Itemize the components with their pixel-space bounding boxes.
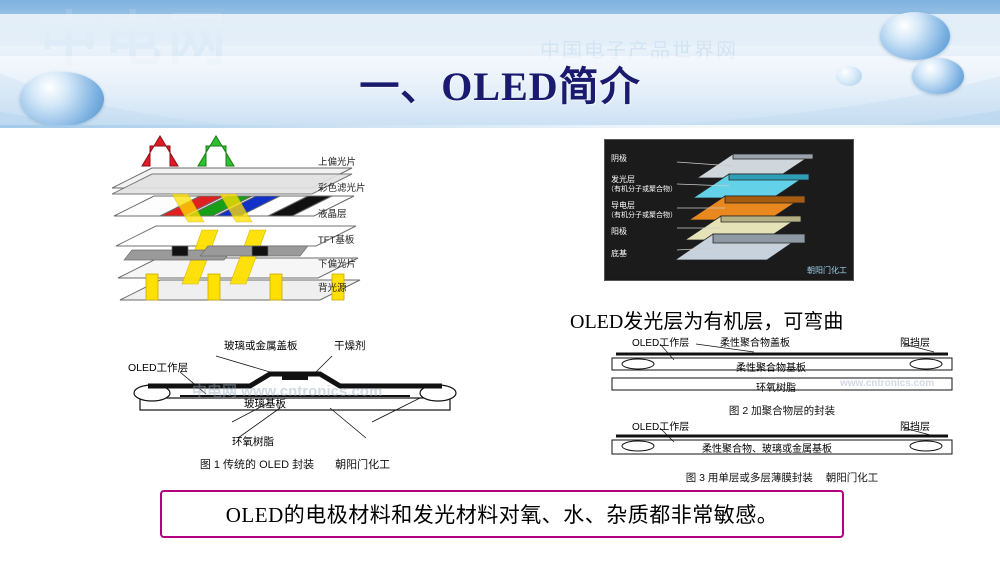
- figure-2-label-working-layer: OLED工作层: [632, 334, 689, 349]
- lcd-label-4: 下偏光片: [318, 260, 356, 270]
- figure-1-label-glass-substrate: 玻璃基板: [244, 396, 286, 411]
- figure-1-label-cover: 玻璃或金属盖板: [224, 338, 298, 353]
- figure-1-label-working-layer: OLED工作层: [128, 360, 188, 375]
- slide: 中电网 中国电子产品世界网 一、OLED简介: [0, 0, 1000, 563]
- figure-1-caption: 图 1 传统的 OLED 封装 朝阳门化工: [120, 456, 470, 472]
- figure-2-polymer-package: OLED工作层 柔性聚合物盖板 阻挡层 柔性聚合物基板 环氧树脂 www.cnt…: [604, 334, 960, 412]
- figure-1-caption-text: 图 1 传统的 OLED 封装: [200, 459, 314, 471]
- lcd-label-0: 上偏光片: [318, 158, 356, 168]
- lcd-label-5: 背光源: [318, 284, 347, 294]
- key-point-banner: OLED的电极材料和发光材料对氧、水、杂质都非常敏感。: [160, 490, 844, 538]
- figure-3-caption-text: 图 3 用单层或多层薄膜封装: [686, 472, 813, 484]
- figure-3-thin-film-package: OLED工作层 柔性聚合物、玻璃或金属基板 阻挡层: [604, 418, 960, 474]
- lcd-label-1: 彩色滤光片: [318, 184, 366, 194]
- figure-3-label-working-layer: OLED工作层: [632, 418, 689, 433]
- figure-1-label-desiccant: 干燥剂: [334, 338, 366, 353]
- lcd-label-3: TFT基板: [318, 236, 354, 246]
- lcd-structure-diagram: [112, 134, 412, 304]
- page-title: 一、OLED简介: [0, 54, 1000, 112]
- lcd-label-2: 液晶层: [318, 210, 347, 220]
- figure-3-source-mark: 朝阳门化工: [826, 472, 879, 484]
- figure-3-caption: 图 3 用单层或多层薄膜封装 朝阳门化工: [604, 470, 960, 485]
- figure-1-label-epoxy: 环氧树脂: [232, 434, 274, 449]
- oled3d-label-conductive-sub: （有机分子或聚合物）: [607, 210, 677, 220]
- oled3d-source-mark: 朝阳门化工: [807, 265, 847, 276]
- oled3d-label-cathode: 阴极: [611, 153, 627, 164]
- figure-2-caption: 图 2 加聚合物层的封装: [604, 403, 960, 418]
- figure-3-label-barrier: 阻挡层: [900, 418, 930, 433]
- oled3d-label-substrate: 底基: [611, 248, 627, 259]
- oled-3d-structure: 阴极 发光层 （有机分子或聚合物） 导电层 （有机分子或聚合物） 阳极 底基 朝…: [604, 139, 854, 281]
- oled3d-label-emissive-sub: （有机分子或聚合物）: [607, 184, 677, 194]
- figure-2-label-cover: 柔性聚合物盖板: [720, 334, 790, 349]
- decorative-bubble-top-right: [880, 12, 950, 60]
- header-divider: [0, 125, 1000, 128]
- key-point-text: OLED的电极材料和发光材料对氧、水、杂质都非常敏感。: [226, 499, 778, 529]
- oled-figure-caption: OLED发光层为有机层，可弯曲: [570, 305, 970, 334]
- figure-3-label-substrate: 柔性聚合物、玻璃或金属基板: [702, 440, 832, 455]
- figure-1-source-mark: 朝阳门化工: [335, 459, 390, 471]
- oled3d-label-anode: 阳极: [611, 226, 627, 237]
- figure-2-label-barrier: 阻挡层: [900, 334, 930, 349]
- figure-2-label-epoxy: 环氧树脂: [756, 379, 796, 394]
- figure-2-label-substrate: 柔性聚合物基板: [736, 359, 806, 374]
